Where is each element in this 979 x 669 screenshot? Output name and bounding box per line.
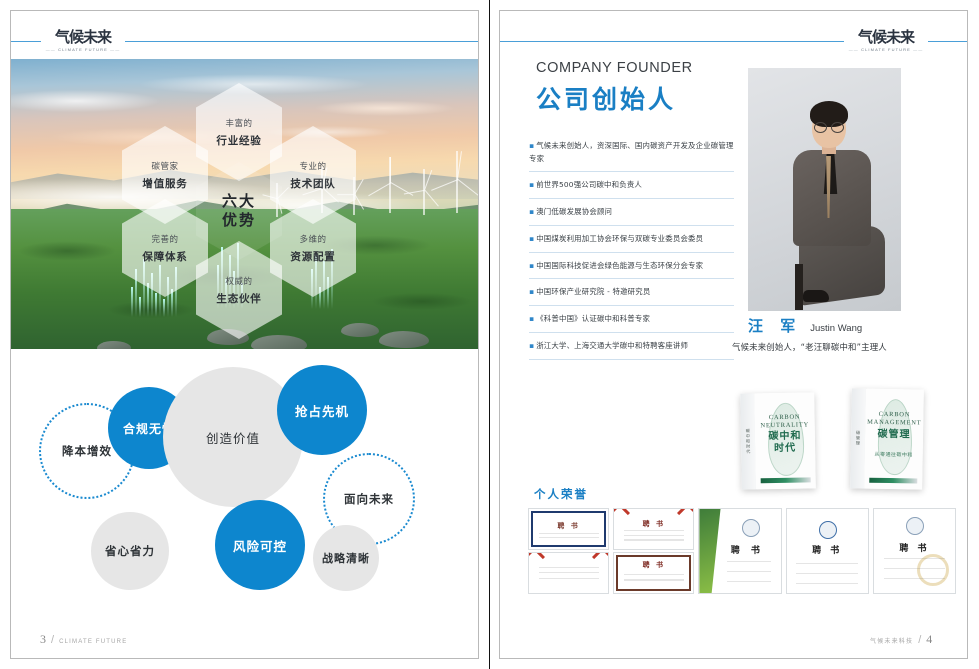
bio-item: ▪前世界500强公司碳中和负责人 bbox=[529, 172, 734, 199]
bubble-label: 面向未来 bbox=[344, 491, 394, 507]
footer-right: 气候未来科技 / 4 bbox=[870, 632, 932, 647]
certificate-caption: 聘 书 bbox=[529, 521, 608, 531]
hexagon-bottom-label: 资源配置 bbox=[290, 249, 335, 264]
bubble-label: 降本增效 bbox=[62, 443, 112, 459]
footer-left: 3 / CLIMATE FUTURE bbox=[40, 632, 127, 647]
hexagon-top-label: 权威的 bbox=[225, 275, 252, 287]
bio-item: ▪《科普中国》认证碳中和科普专家 bbox=[529, 306, 734, 333]
bubble-label: 战略清晰 bbox=[322, 550, 370, 566]
bubble-fengxian-kekong: 风险可控 bbox=[215, 500, 305, 590]
books-showcase: 碳中和时代 CARBONNEUTRALITY 碳中和时代 碳管理 CARBONM… bbox=[735, 383, 950, 495]
book-cover: 碳中和时代 CARBONNEUTRALITY 碳中和时代 bbox=[740, 392, 816, 489]
header-rule-left-short bbox=[11, 41, 41, 42]
left-page: 气候未来 —— CLIMATE FUTURE —— bbox=[0, 0, 489, 669]
hexagon-center-line1: 六大 bbox=[222, 192, 256, 211]
header-rule-right-short bbox=[928, 41, 967, 42]
bio-item: ▪中国国际科技促进会绿色能源与生态环保分会专家 bbox=[529, 253, 734, 280]
logo-right: 气候未来 —— CLIMATE FUTURE —— bbox=[844, 26, 928, 56]
book-english-title: CARBONNEUTRALITY bbox=[755, 413, 815, 430]
bio-text: 前世界500强公司碳中和负责人 bbox=[536, 180, 642, 189]
hexagon-cell: 多维的 资源配置 bbox=[270, 199, 356, 297]
bio-item: ▪气候未来创始人，资深国际、国内碳资产开发及企业碳管理专家 bbox=[529, 133, 734, 172]
honors-section-title: 个人荣誉 bbox=[534, 486, 588, 502]
book-spine-text: 碳中和时代 bbox=[745, 428, 751, 454]
logo-text-cn-a: 气候未来 bbox=[55, 30, 111, 45]
hexagon-top-label: 完善的 bbox=[151, 233, 178, 245]
bio-item: ▪中国煤炭利用加工协会环保与双碳专业委员会委员 bbox=[529, 226, 734, 253]
footer-slash: / bbox=[918, 634, 921, 646]
brochure-spread: 气候未来 —— CLIMATE FUTURE —— bbox=[0, 0, 979, 669]
bubble-shengxin-shengli: 省心省力 bbox=[91, 512, 169, 590]
header-rule-right-long bbox=[500, 41, 844, 42]
logo-mark: 气候未来 bbox=[858, 30, 914, 45]
value-bubbles-diagram: 降本增效 合规无忧 创造价值 抢占先机 面向未来 省心省力 风险可控 战略清晰 bbox=[11, 360, 478, 610]
hexagon-cell: 碳管家 增值服务 bbox=[122, 126, 208, 224]
hexagon-top-label: 专业的 bbox=[299, 160, 326, 172]
book-footer-bar bbox=[869, 478, 918, 484]
header-rule-left-long bbox=[125, 41, 478, 42]
bubble-label: 风险可控 bbox=[233, 536, 287, 555]
founder-description: 气候未来创始人，“老汪聊碳中和”主理人 bbox=[732, 341, 887, 353]
certificate-seal bbox=[906, 517, 924, 535]
page-number: 4 bbox=[926, 632, 932, 647]
bio-text: 中国煤炭利用加工协会环保与双碳专业委员会委员 bbox=[536, 234, 703, 243]
certificate-caption: 聘 书 bbox=[874, 541, 955, 554]
certificate-seal bbox=[742, 519, 760, 537]
footer-slash: / bbox=[51, 634, 54, 646]
certificate-item: 聘 书 bbox=[613, 508, 694, 550]
certificate-item: 聘 书 bbox=[528, 508, 609, 550]
founder-name-cn: 汪 军 bbox=[748, 315, 801, 336]
founder-portrait-photo bbox=[748, 68, 901, 311]
book-cover: 碳管理 CARBONMANAGEMENT 碳管理 从零通往碳中和 bbox=[850, 388, 924, 489]
hero-landscape-image: 丰富的 行业经验 专业的 技术团队 多维的 资源配置 权威的 生态伙伴 完善的 bbox=[11, 59, 478, 349]
book-footer-bar bbox=[760, 478, 810, 484]
logo-text-cn-b: 气候未来 bbox=[858, 30, 914, 45]
certificate-caption: 聘 书 bbox=[714, 543, 781, 556]
hexagon-bottom-label: 保障体系 bbox=[142, 249, 187, 264]
hexagon-bottom-label: 增值服务 bbox=[142, 176, 187, 191]
bio-item: ▪中国环保产业研究院 - 特邀研究员 bbox=[529, 279, 734, 306]
book-english-title: CARBONMANAGEMENT bbox=[865, 411, 923, 428]
logo-mark: 气候未来 bbox=[55, 30, 111, 45]
certificate-stack: 聘 书 聘 书 bbox=[613, 508, 694, 594]
hexagon-center: 六大 优势 bbox=[196, 162, 282, 260]
certificate-item: 聘 书 bbox=[613, 552, 694, 594]
bio-text: 浙江大学、上海交通大学碳中和特聘客座讲师 bbox=[536, 341, 688, 350]
hexagon-bottom-label: 生态伙伴 bbox=[216, 291, 261, 306]
logo-text-en: —— CLIMATE FUTURE —— bbox=[46, 47, 121, 52]
certificate-caption: 聘 书 bbox=[614, 560, 693, 570]
certificates-gallery: 聘 书 聘 书 聘 书 聘 书 bbox=[528, 508, 956, 594]
bubble-zhanlue-qingxi: 战略清晰 bbox=[313, 525, 379, 591]
book-chinese-title: 碳中和时代 bbox=[755, 431, 815, 455]
hexagon-top-label: 碳管家 bbox=[151, 160, 178, 172]
portrait-stool bbox=[795, 264, 803, 310]
certificate-seal bbox=[819, 521, 837, 539]
hexagon-bottom-label: 行业经验 bbox=[216, 133, 261, 148]
founder-name-row: 汪 军 Justin Wang bbox=[748, 315, 862, 336]
bio-item: ▪浙江大学、上海交通大学碳中和特聘客座讲师 bbox=[529, 333, 734, 360]
bio-item: ▪澳门低碳发展协会顾问 bbox=[529, 199, 734, 226]
hexagon-advantages-diagram: 丰富的 行业经验 专业的 技术团队 多维的 资源配置 权威的 生态伙伴 完善的 bbox=[11, 59, 478, 349]
certificate-gold-ring bbox=[917, 554, 949, 586]
bubble-qiangzhan-xianji: 抢占先机 bbox=[277, 365, 367, 455]
section-eyebrow: COMPANY FOUNDER bbox=[536, 60, 693, 76]
bubble-label: 创造价值 bbox=[206, 428, 260, 447]
logo-left: 气候未来 —— CLIMATE FUTURE —— bbox=[41, 26, 125, 56]
spread-gutter bbox=[489, 0, 490, 669]
bio-text: 气候未来创始人，资深国际、国内碳资产开发及企业碳管理专家 bbox=[529, 141, 734, 163]
certificate-item: 聘 书 bbox=[873, 508, 956, 594]
logo-text-en: —— CLIMATE FUTURE —— bbox=[849, 47, 924, 52]
certificate-item: 聘 书 bbox=[786, 508, 869, 594]
certificate-item: 聘 书 bbox=[698, 508, 781, 594]
bio-text: 澳门低碳发展协会顾问 bbox=[536, 207, 612, 216]
glasses-icon bbox=[814, 122, 844, 131]
founder-name-en: Justin Wang bbox=[810, 323, 862, 334]
book-chinese-title: 碳管理 bbox=[865, 429, 923, 442]
founder-bio-list: ▪气候未来创始人，资深国际、国内碳资产开发及企业碳管理专家 ▪前世界500强公司… bbox=[529, 133, 734, 360]
book-face: CARBONNEUTRALITY 碳中和时代 bbox=[754, 392, 816, 489]
certificate-stack: 聘 书 bbox=[528, 508, 609, 594]
bio-text: 《科普中国》认证碳中和科普专家 bbox=[536, 314, 650, 323]
hexagon-top-label: 丰富的 bbox=[225, 117, 252, 129]
footer-brand-name: CLIMATE FUTURE bbox=[59, 639, 127, 645]
hexagon-top-label: 多维的 bbox=[299, 233, 326, 245]
certificate-caption: 聘 书 bbox=[787, 543, 868, 556]
section-title: 公司创始人 bbox=[536, 80, 676, 116]
certificate-caption: 聘 书 bbox=[614, 519, 693, 529]
book-face: CARBONMANAGEMENT 碳管理 从零通往碳中和 bbox=[864, 389, 924, 490]
book-spine-text: 碳管理 bbox=[855, 431, 861, 447]
hexagon-center-line2: 优势 bbox=[222, 211, 256, 230]
footer-brand-name: 气候未来科技 bbox=[870, 636, 913, 645]
bubble-label: 抢占先机 bbox=[295, 401, 349, 420]
bio-text: 中国环保产业研究院 - 特邀研究员 bbox=[536, 287, 650, 296]
book-subtitle: 从零通往碳中和 bbox=[865, 451, 923, 459]
bio-text: 中国国际科技促进会绿色能源与生态环保分会专家 bbox=[536, 261, 703, 270]
bubble-label: 省心省力 bbox=[105, 543, 155, 559]
certificate-item bbox=[528, 552, 609, 594]
hexagon-bottom-label: 技术团队 bbox=[290, 176, 335, 191]
portrait-shoe bbox=[803, 290, 829, 302]
page-number: 3 bbox=[40, 632, 46, 647]
